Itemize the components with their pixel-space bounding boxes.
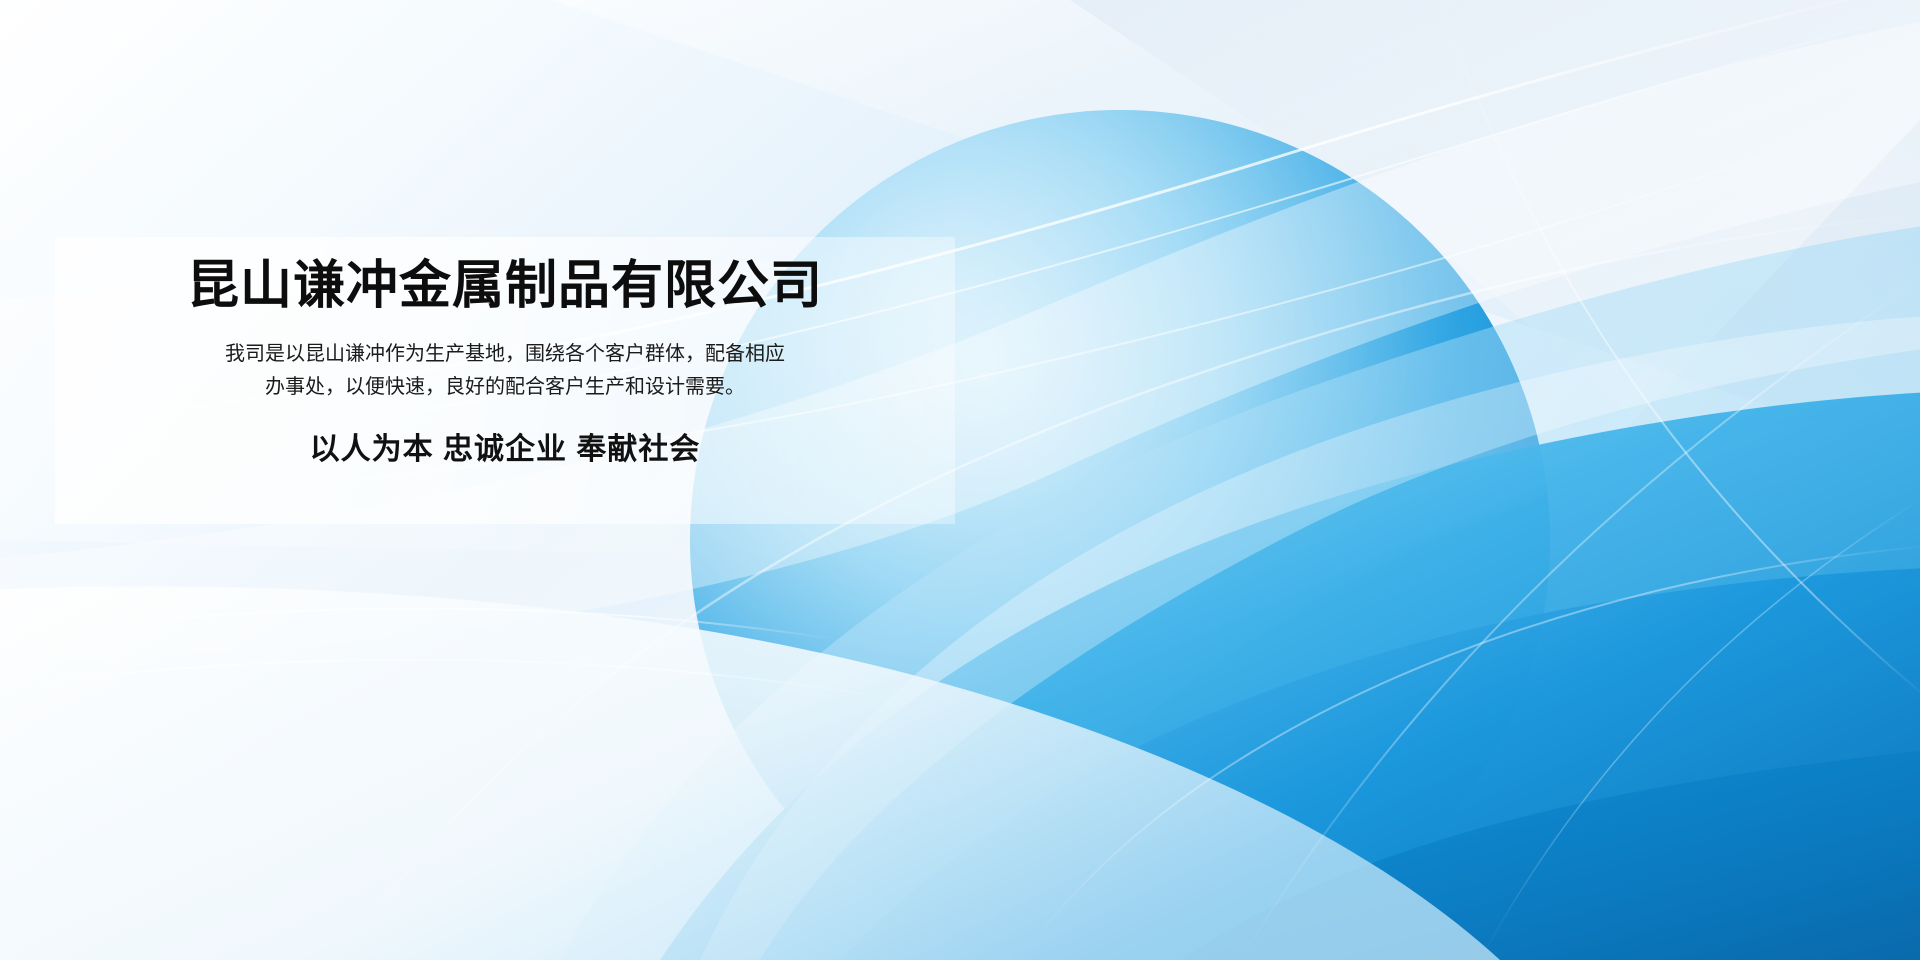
banner-text-block: 昆山谦冲金属制品有限公司 我司是以昆山谦冲作为生产基地，围绕各个客户群体，配备相… — [55, 237, 955, 524]
company-title: 昆山谦冲金属制品有限公司 — [55, 254, 955, 318]
intro-line-2: 办事处，以便快速，良好的配合客户生产和设计需要。 — [69, 371, 941, 404]
company-slogan: 以人为本 忠诚企业 奉献社会 — [55, 430, 955, 470]
company-intro-paragraph: 我司是以昆山谦冲作为生产基地，围绕各个客户群体，配备相应 办事处，以便快速，良好… — [55, 338, 955, 404]
intro-line-1: 我司是以昆山谦冲作为生产基地，围绕各个客户群体，配备相应 — [69, 338, 941, 371]
company-hero-banner: 昆山谦冲金属制品有限公司 我司是以昆山谦冲作为生产基地，围绕各个客户群体，配备相… — [0, 0, 1920, 960]
